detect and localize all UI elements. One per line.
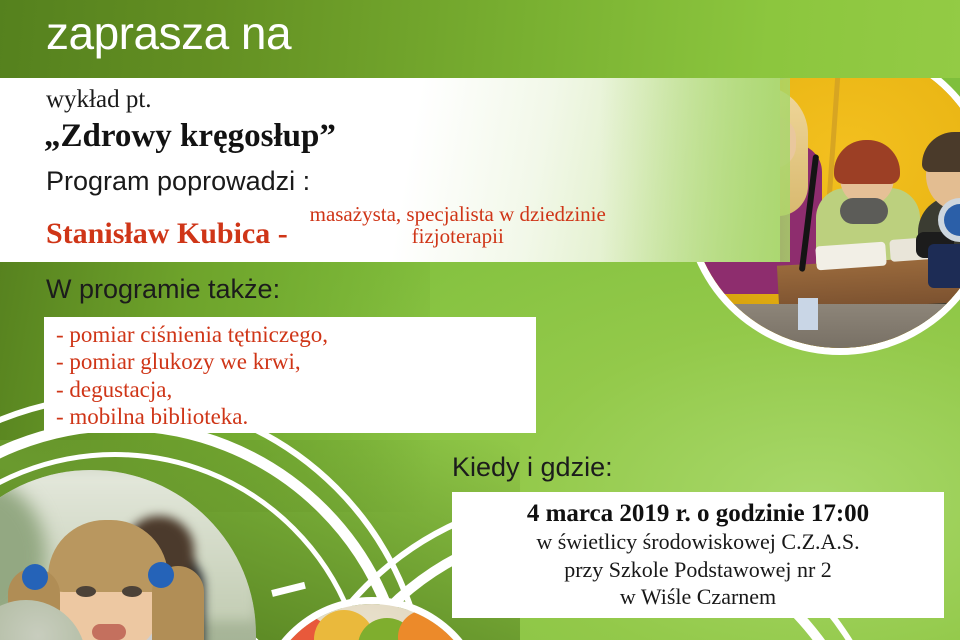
- program-lead-label: Program poprowadzi :: [46, 166, 310, 197]
- poster-canvas: zaprasza na wykład pt. „Zdrowy kręgosłup…: [0, 0, 960, 640]
- event-venue-line-3: w Wiśle Czarnem: [452, 583, 944, 611]
- lecture-prefix: wykład pt.: [46, 86, 152, 114]
- list-item: - pomiar glukozy we krwi,: [56, 348, 536, 375]
- speaker-name: Stanisław Kubica -: [46, 217, 288, 250]
- list-item: - degustacja,: [56, 376, 536, 403]
- invite-headline: zaprasza na: [46, 6, 291, 60]
- speaker-role: masażysta, specjalista w dziedzinie fizj…: [288, 203, 628, 247]
- list-item: - pomiar ciśnienia tętniczego,: [56, 321, 536, 348]
- lecture-title: „Zdrowy kręgosłup”: [44, 118, 336, 155]
- event-venue-line-1: w świetlicy środowiskowej C.Z.A.S.: [452, 528, 944, 556]
- list-item: - mobilna biblioteka.: [56, 403, 536, 430]
- event-venue-line-2: przy Szkole Podstawowej nr 2: [452, 556, 944, 584]
- speaker-row: Stanisław Kubica -masażysta, specjalista…: [46, 203, 746, 251]
- when-where-box: 4 marca 2019 r. o godzinie 17:00 w świet…: [452, 492, 944, 618]
- program-list: - pomiar ciśnienia tętniczego, - pomiar …: [44, 317, 536, 430]
- program-section-heading: W programie także:: [46, 274, 280, 305]
- event-date: 4 marca 2019 r. o godzinie 17:00: [452, 500, 944, 528]
- header-band: zaprasza na: [0, 0, 960, 78]
- when-where-heading: Kiedy i gdzie:: [452, 452, 613, 483]
- fruit-bowl-photo: [262, 604, 482, 640]
- program-list-box: - pomiar ciśnienia tętniczego, - pomiar …: [44, 317, 536, 433]
